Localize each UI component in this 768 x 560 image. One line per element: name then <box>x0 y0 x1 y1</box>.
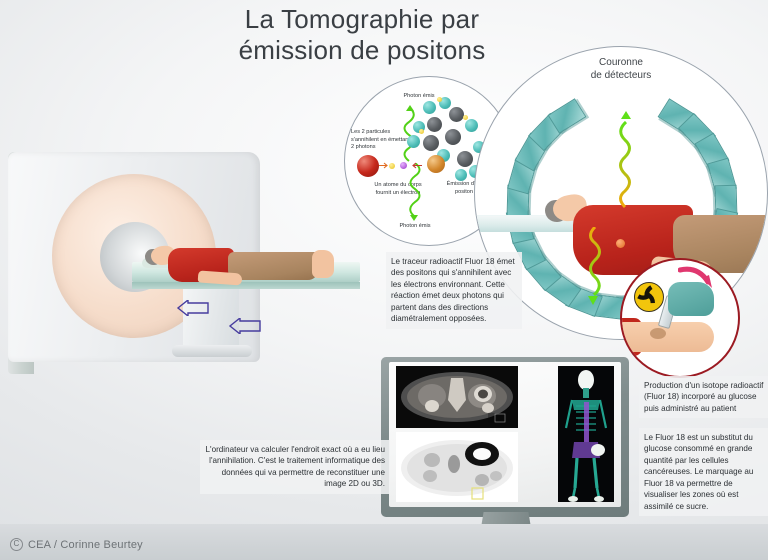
tracer-description-text: Le traceur radioactif Fluor 18 émet des … <box>386 252 522 329</box>
injection-inset-circle <box>620 258 740 378</box>
carbon-atom-3 <box>423 135 439 151</box>
hydrogen-atom <box>437 97 442 102</box>
gamma-ray-icon-down <box>409 163 435 225</box>
detector-crown-label-line1: Couronne <box>475 57 767 70</box>
positron-particle <box>400 162 407 169</box>
gamma-ray-icon-up <box>391 101 417 163</box>
hydrogen-atom-3 <box>419 129 424 134</box>
gamma-ray-icon-ring-down <box>581 227 607 307</box>
gamma-ray-icon-ring-up <box>613 109 639 209</box>
carbon-atom-5 <box>457 151 473 167</box>
carbon-atom-4 <box>445 129 461 145</box>
patient-feet <box>312 250 334 278</box>
oxygen-atom-4 <box>465 119 478 132</box>
pet-axial-scan-image <box>396 432 518 502</box>
table-direction-arrow-icon-2 <box>228 318 262 334</box>
oxygen-atom <box>423 101 436 114</box>
ct-axial-scan-image <box>396 366 518 428</box>
whole-body-pet-scan-image <box>558 366 614 502</box>
scanner-table-edge <box>132 282 360 289</box>
computer-description-text: L'ordinateur va calculer l'endroit exact… <box>200 440 390 494</box>
title-line-1: La Tomographie par <box>182 4 542 35</box>
oxygen-atom-9 <box>455 169 467 181</box>
oxygen-atom-5 <box>407 135 420 148</box>
fluorine-18-atom <box>427 155 445 173</box>
electron-particle <box>389 163 395 169</box>
scanner-table-base <box>172 345 252 357</box>
production-description-text: Production d'un isotope radioactif (Fluo… <box>639 376 768 418</box>
electron-arrow-icon <box>379 161 389 170</box>
copyright-icon: C <box>10 538 23 551</box>
radioactive-trefoil-icon <box>634 282 664 312</box>
carbon-atom <box>449 107 464 122</box>
pink-arrow-icon <box>678 266 718 292</box>
positron-arrow-icon <box>411 161 423 170</box>
hydrogen-atom-2 <box>463 115 468 120</box>
carbon-atom-2 <box>427 117 442 132</box>
injection-site <box>650 328 666 339</box>
credit-text: CEA / Corinne Beurtey <box>28 539 143 551</box>
tumor-site <box>616 239 625 248</box>
patient-legs <box>228 252 318 280</box>
table-direction-arrow-icon <box>176 300 210 316</box>
illustration-canvas: La Tomographie par émission de positons … <box>0 0 768 560</box>
credit-line: C CEA / Corinne Beurtey <box>10 538 143 551</box>
fluor18-description-text: Le Fluor 18 est un substitut du glucose … <box>639 428 768 516</box>
body-atom-sphere <box>357 155 379 177</box>
